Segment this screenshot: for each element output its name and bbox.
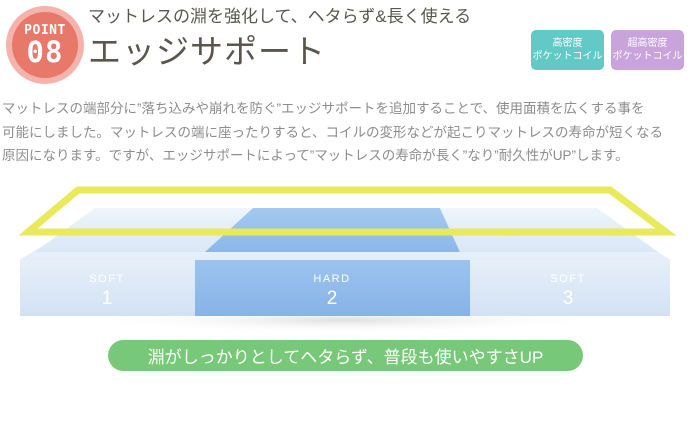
summary-banner-text: 淵がしっかりとしてヘタらず、普段も使いやすさUP	[148, 343, 544, 368]
tag-high-density-line1: 高密度	[553, 37, 583, 51]
tag-ultra-high-density-line1: 超高密度	[628, 37, 668, 51]
body-copy-line-2: 可能にしました。マットレスの端に座ったりすると、コイルの変形などが起こりマットレ…	[2, 121, 686, 145]
mattress-diagram: SOFT 1 HARD 2 SOFT 3	[0, 168, 690, 338]
page-title: エッジサポート	[88, 31, 471, 72]
point-badge: POINT 08	[6, 6, 84, 84]
tag-ultra-high-density-line2: ポケットコイル	[613, 50, 683, 64]
zone-2-label: HARD	[313, 273, 350, 285]
mattress-diagram-svg: SOFT 1 HARD 2 SOFT 3	[0, 168, 690, 338]
zone-2-number: 2	[327, 288, 338, 309]
tag-row: 高密度 ポケットコイル 超高密度 ポケットコイル	[531, 30, 684, 70]
body-copy-line-1: マットレスの端部分に”落ち込みや崩れを防ぐ”エッジサポートを追加することで、使用…	[2, 97, 686, 121]
point-badge-inner: POINT 08	[12, 12, 78, 78]
tag-ultra-high-density: 超高密度 ポケットコイル	[611, 30, 684, 70]
zone-1-label: SOFT	[89, 273, 124, 285]
point-badge-number: 08	[27, 38, 64, 67]
header: POINT 08 マットレスの淵を強化して、ヘタらず&長く使える エッジサポート…	[0, 0, 690, 88]
infographic-page: POINT 08 マットレスの淵を強化して、ヘタらず&長く使える エッジサポート…	[0, 0, 690, 428]
body-copy-line-3: 原因になります。ですが、エッジサポートによって”マットレスの寿命が長く”なり”耐…	[2, 144, 686, 168]
tag-high-density-line2: ポケットコイル	[533, 50, 603, 64]
body-copy: マットレスの端部分に”落ち込みや崩れを防ぐ”エッジサポートを追加することで、使用…	[2, 97, 686, 168]
title-block: マットレスの淵を強化して、ヘタらず&長く使える エッジサポート	[88, 4, 471, 72]
zone-1-number: 1	[102, 288, 113, 309]
zone-3-number: 3	[563, 288, 574, 309]
tag-high-density: 高密度 ポケットコイル	[531, 30, 604, 70]
page-subtitle: マットレスの淵を強化して、ヘタらず&長く使える	[88, 4, 471, 30]
summary-banner: 淵がしっかりとしてヘタらず、普段も使いやすさUP	[108, 340, 583, 371]
zone-3-label: SOFT	[550, 273, 585, 285]
